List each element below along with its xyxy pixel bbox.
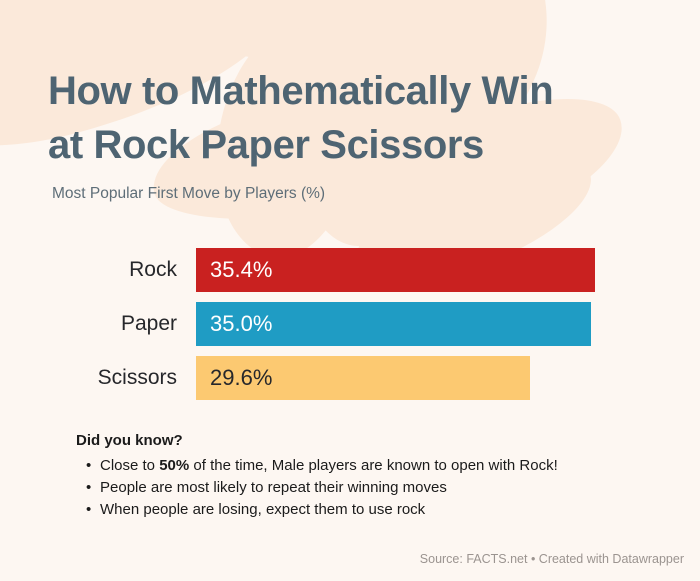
bar-row: Scissors29.6% xyxy=(0,356,700,400)
chart-header: How to Mathematically Win at Rock Paper … xyxy=(48,64,658,204)
bar-track: 35.0% xyxy=(196,302,700,346)
note-emphasis: 50% xyxy=(159,457,189,474)
bar-fill: 29.6% xyxy=(196,356,530,400)
notes-heading: Did you know? xyxy=(76,431,656,450)
note-text: Close to xyxy=(100,457,159,474)
bar-category-label: Paper xyxy=(0,302,177,346)
source-footer: Source: FACTS.net • Created with Datawra… xyxy=(420,551,684,567)
infographic-chart-card: How to Mathematically Win at Rock Paper … xyxy=(0,0,700,581)
notes-list: Close to 50% of the time, Male players a… xyxy=(76,455,656,521)
chart-subtitle: Most Popular First Move by Players (%) xyxy=(52,184,658,204)
bar-category-label: Scissors xyxy=(0,356,177,400)
bar-fill: 35.0% xyxy=(196,302,591,346)
bar-category-label: Rock xyxy=(0,248,177,292)
bar-fill: 35.4% xyxy=(196,248,595,292)
note-item: When people are losing, expect them to u… xyxy=(100,499,656,521)
bar-chart-plot: Rock35.4%Paper35.0%Scissors29.6% xyxy=(0,248,700,410)
bar-track: 35.4% xyxy=(196,248,700,292)
bar-value-label: 35.4% xyxy=(210,257,272,283)
note-item: Close to 50% of the time, Male players a… xyxy=(100,455,656,477)
bar-track: 29.6% xyxy=(196,356,700,400)
note-text: People are most likely to repeat their w… xyxy=(100,479,447,496)
bar-row: Paper35.0% xyxy=(0,302,700,346)
bar-value-label: 29.6% xyxy=(210,365,272,391)
bar-value-label: 35.0% xyxy=(210,311,272,337)
bar-row: Rock35.4% xyxy=(0,248,700,292)
did-you-know-section: Did you know? Close to 50% of the time, … xyxy=(76,431,656,521)
page-title: How to Mathematically Win at Rock Paper … xyxy=(48,64,658,172)
note-text: When people are losing, expect them to u… xyxy=(100,501,425,518)
note-text: of the time, Male players are known to o… xyxy=(189,457,558,474)
note-item: People are most likely to repeat their w… xyxy=(100,477,656,499)
